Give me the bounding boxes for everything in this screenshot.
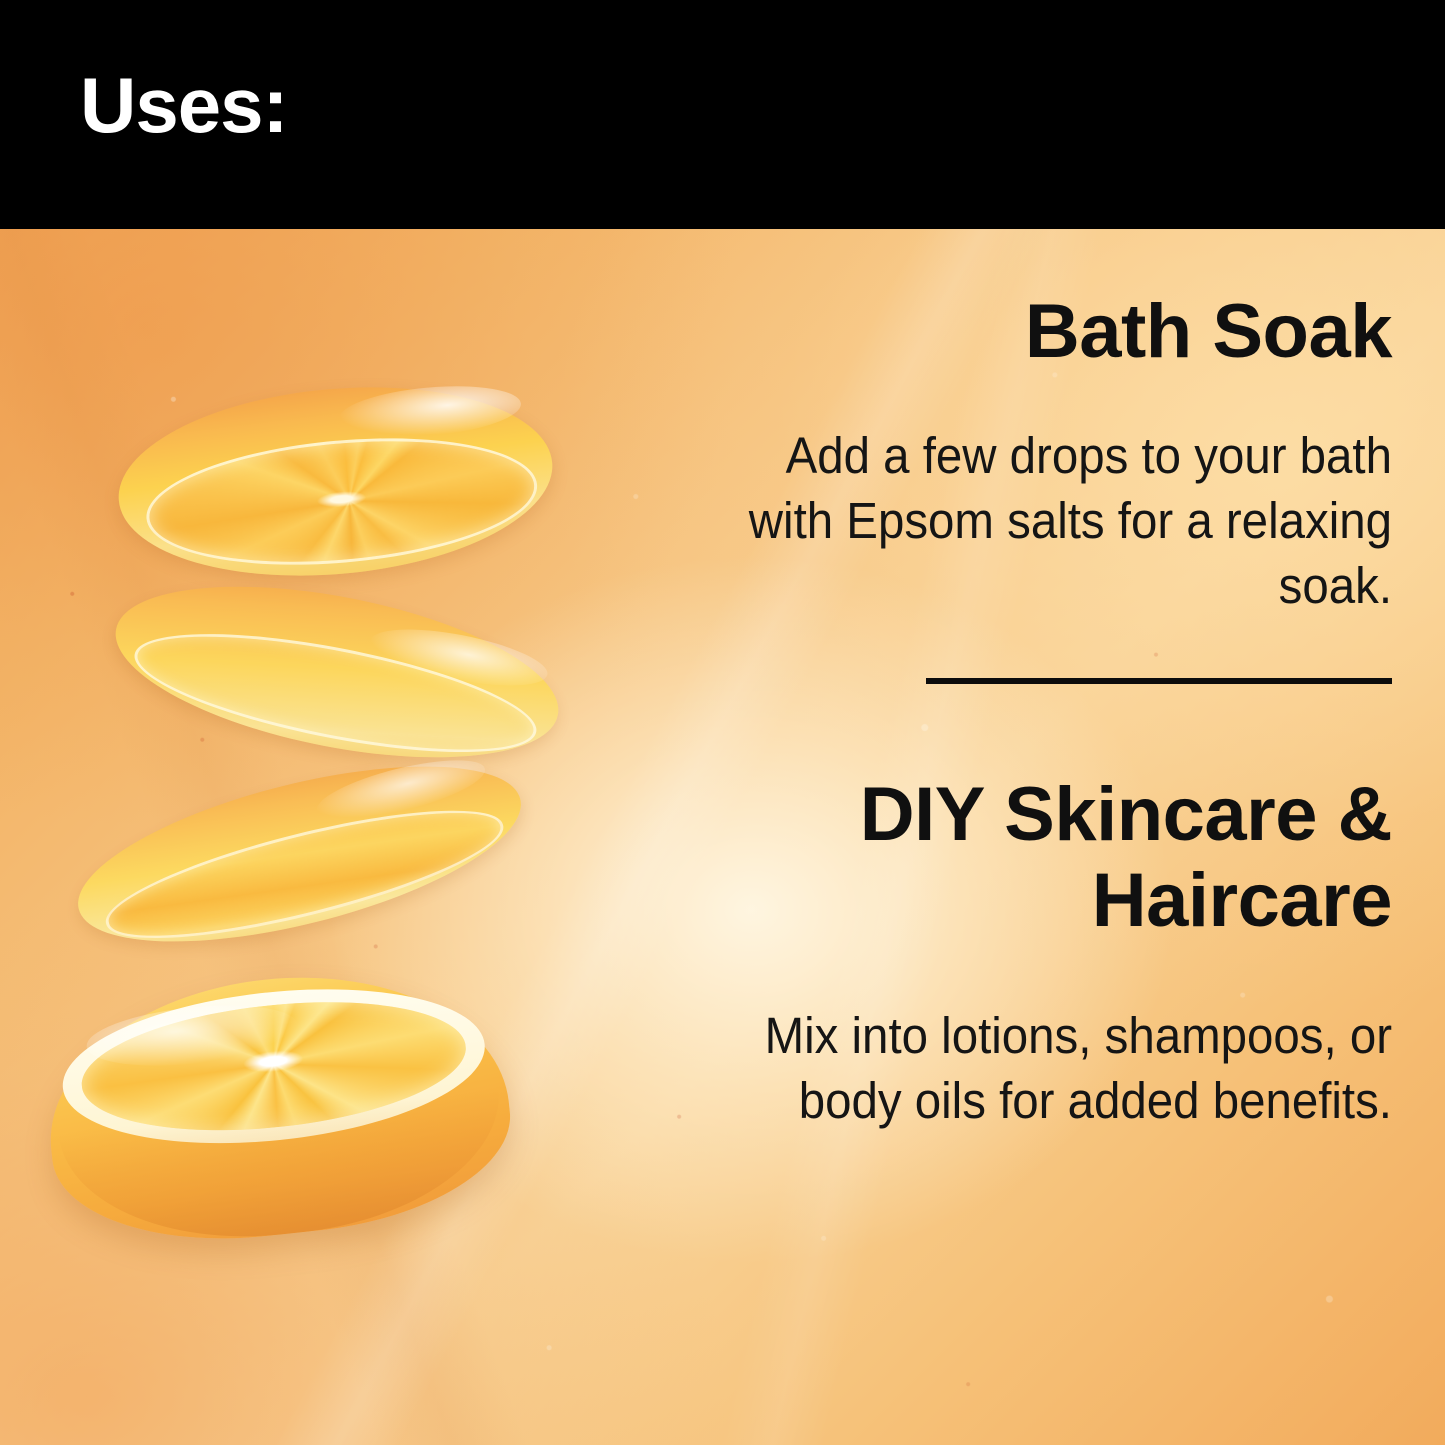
infographic-canvas: Bath Soak Add a few drops to your bath w…: [0, 0, 1445, 1445]
diy-skincare-haircare-description: Mix into lotions, shampoos, or body oils…: [693, 1004, 1392, 1134]
header-bar: Uses:: [0, 0, 1445, 229]
diy-skincare-haircare-heading: DIY Skincare & Haircare: [632, 772, 1392, 944]
page-title: Uses:: [80, 66, 287, 144]
section-divider: [926, 678, 1392, 684]
uses-content-column: Bath Soak Add a few drops to your bath w…: [600, 229, 1445, 1445]
bath-soak-heading: Bath Soak: [632, 289, 1392, 375]
bath-soak-description: Add a few drops to your bath with Epsom …: [693, 424, 1392, 618]
